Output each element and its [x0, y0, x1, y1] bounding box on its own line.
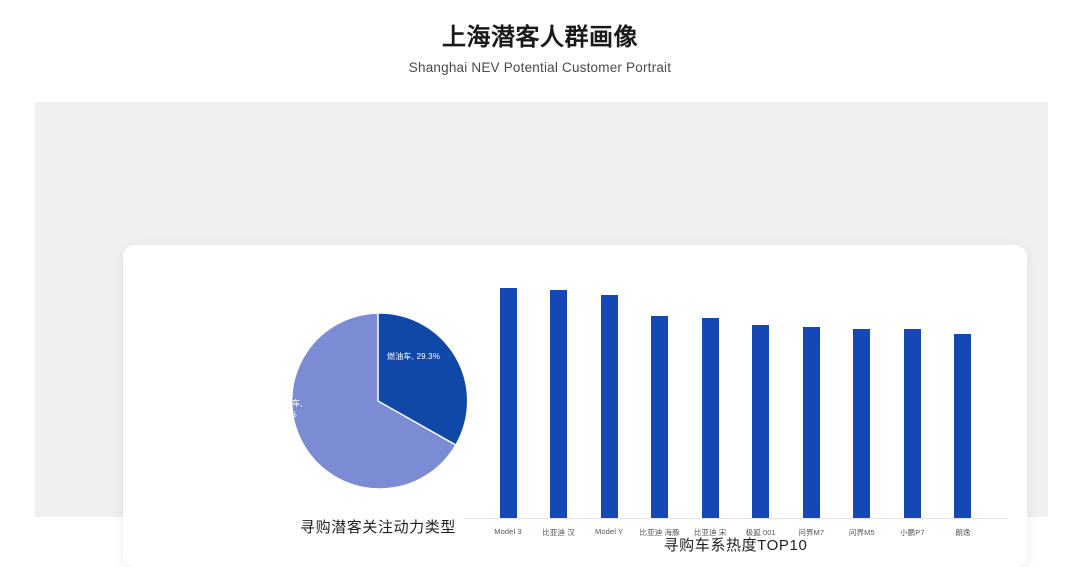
bar-column: [584, 288, 634, 518]
bar-chart-plot: Model 3 比亚迪 汉 Model Y 比亚迪 海豚 比亚迪 宋 极狐 00…: [463, 275, 1008, 532]
bar-column: [483, 288, 533, 518]
bar-column: [534, 288, 584, 518]
bar-0: [500, 288, 517, 518]
bar-column: [685, 288, 735, 518]
bar-column: [786, 288, 836, 518]
bar-column: [736, 288, 786, 518]
bar-column: [938, 288, 988, 518]
bar-chart-caption: 寻购车系热度TOP10: [463, 534, 1008, 555]
bar-2: [601, 295, 618, 518]
page-title: 上海潜客人群画像: [0, 24, 1080, 53]
bar-6: [803, 327, 820, 518]
page-header: 上海潜客人群画像 Shanghai NEV Potential Customer…: [0, 0, 1080, 75]
charts-card: 燃油车, 29.3% 新能源车, 70.7% 寻购潜客关注动力类型: [123, 245, 1027, 567]
bar-chart-section: Model 3 比亚迪 汉 Model Y 比亚迪 海豚 比亚迪 宋 极狐 00…: [463, 275, 1008, 565]
bar-1: [550, 290, 567, 518]
bar-3: [651, 316, 668, 518]
bar-9: [954, 334, 971, 518]
page-subtitle: Shanghai NEV Potential Customer Portrait: [0, 60, 1080, 75]
bar-8: [904, 329, 921, 518]
bar-column: [837, 288, 887, 518]
bar-5: [752, 325, 769, 518]
bar-chart-bars: [463, 288, 1008, 518]
bar-7: [853, 329, 870, 518]
bar-4: [702, 318, 719, 518]
dashboard-background-panel: 燃油车, 29.3% 新能源车, 70.7% 寻购潜客关注动力类型: [35, 102, 1048, 517]
bar-chart-baseline: [463, 518, 1008, 519]
bar-column: [635, 288, 685, 518]
pie-label-nev: 新能源车, 70.7%: [230, 399, 340, 421]
bar-column: [887, 288, 937, 518]
